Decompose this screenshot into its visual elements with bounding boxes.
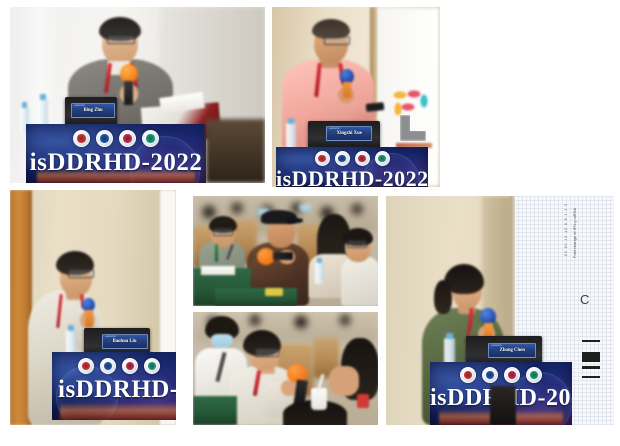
- photo-collage: isDDRHD Bing Zhu isDDRHD-2022: [0, 0, 620, 446]
- microphone-body-orange: [85, 310, 93, 327]
- podium-laptop: isDDRHD Xingzhi Xue: [308, 121, 380, 149]
- slide-gel-band-3: [582, 366, 600, 369]
- organizer-logo-icon-2: [100, 358, 116, 374]
- slide-gel-band-2: [582, 352, 600, 362]
- desk-item-yellow: [265, 288, 283, 296]
- organizer-logo-icon-1: [460, 367, 476, 383]
- nameplate-baohua-liu: isDDRHD Baohua Liu: [102, 334, 148, 349]
- face-mask-back-2: [299, 204, 311, 212]
- podium-banner: isDDRHD-2022: [276, 147, 428, 187]
- nameplate-tag: isDDRHD: [491, 344, 502, 347]
- desk-drape-2: [215, 288, 297, 306]
- organizer-logo-icon-3: [119, 130, 136, 147]
- panel-speaker-xingzhi-xue: isDDRHD Xingzhi Xue isDDRHD-2022: [272, 7, 440, 187]
- podium-side-panel: [206, 119, 265, 183]
- panel-speaker-bing-zhu: isDDRHD Bing Zhu isDDRHD-2022: [10, 7, 265, 183]
- organizer-logo-icon-4: [144, 358, 160, 374]
- cup-red: [357, 394, 369, 408]
- panel-audience-question-2: [193, 312, 378, 425]
- organizer-logo-icon-2: [96, 130, 113, 147]
- face-mask-icon: [211, 334, 233, 349]
- organizer-logo-icon-3: [355, 151, 370, 166]
- organizer-logo-icon-4: [375, 151, 390, 166]
- slide-panel-letter-c: C: [580, 292, 589, 307]
- speaker-glasses: [324, 36, 350, 45]
- nameplate-zhong-chen: isDDRHD Zhong Chen: [488, 343, 536, 358]
- microphone-body: [273, 252, 293, 260]
- desk-drape: [193, 396, 237, 425]
- slide-gel-band-4: [582, 376, 600, 378]
- questioner-cap-brim: [287, 218, 303, 223]
- slide-y-tick-labels: 80 60 40 10 8 6 4 2 0: [564, 203, 568, 256]
- slide-gel-band-1: [582, 340, 600, 342]
- questioner-glasses: [255, 348, 279, 357]
- organizer-logos: [276, 151, 428, 166]
- organizer-logo-icon-2: [482, 367, 498, 383]
- nameplate-tag: isDDRHD: [105, 335, 116, 338]
- podium-laptop: isDDRHD Bing Zhu: [65, 97, 117, 127]
- wall-logo-graphic: [392, 89, 432, 119]
- organizer-logo-icon-4: [142, 130, 159, 147]
- water-bottle: [315, 262, 324, 284]
- podium-banner: isDDRHD-2022: [26, 124, 206, 183]
- microphone-body-orange: [343, 82, 351, 98]
- speaker-ponytail: [434, 280, 452, 314]
- attendee-left-lanyard: [215, 244, 218, 262]
- attendee-front-right-torso: [341, 256, 378, 306]
- organizer-logo-icon-3: [504, 367, 520, 383]
- nameplate-tag: isDDRHD: [329, 127, 340, 130]
- banner-title: isDDRHD-2022: [26, 149, 206, 177]
- panel-speaker-zhong-chen: Fold change of IFN-γ mRNA 80 60 40 10 8 …: [386, 196, 614, 425]
- attendee-right-arm: [329, 366, 359, 396]
- nameplate-xingzhi-xue: isDDRHD Xingzhi Xue: [326, 126, 372, 141]
- slide-y-axis-label: Fold change of IFN-γ mRNA: [572, 208, 577, 258]
- podium-banner: isDDRHD-20: [52, 352, 176, 420]
- desk-papers-1: [201, 266, 235, 275]
- speaker-glasses: [68, 269, 94, 278]
- organizer-logos: [52, 358, 176, 374]
- panel-audience-question-1: [193, 196, 378, 306]
- nameplate-name: Bing Zhu: [83, 108, 102, 113]
- organizer-logo-icon-4: [526, 367, 542, 383]
- attendee-front-right-glasses: [347, 240, 367, 248]
- organizer-logos: [26, 130, 206, 147]
- organizer-logo-icon-1: [73, 130, 90, 147]
- organizer-logo-icon-3: [122, 358, 138, 374]
- nameplate-name: Zhong Chen: [499, 348, 524, 353]
- microphone-body: [124, 81, 133, 105]
- panel-speaker-baohua-liu: isDDRHD Baohua Liu isDDRHD-20: [10, 190, 176, 425]
- banner-title: isDDRHD-20: [52, 376, 176, 404]
- organizer-logo-icon-1: [78, 358, 94, 374]
- organizer-logos: [430, 367, 572, 383]
- podium-side-panel: [490, 386, 516, 425]
- speaker-glasses: [107, 35, 135, 44]
- nameplate-bing-zhu: isDDRHD Bing Zhu: [71, 103, 115, 118]
- nameplate-tag: isDDRHD: [74, 104, 85, 107]
- organizer-logo-icon-1: [315, 151, 330, 166]
- nameplate-name: Baohua Liu: [113, 339, 137, 344]
- nameplate-name: Xingzhi Xue: [336, 131, 361, 136]
- sunset-graphic: [60, 402, 176, 420]
- attendee-left-glasses: [213, 228, 233, 236]
- banner-title: isDDRHD-2022: [276, 166, 428, 187]
- organizer-logo-icon-2: [335, 151, 350, 166]
